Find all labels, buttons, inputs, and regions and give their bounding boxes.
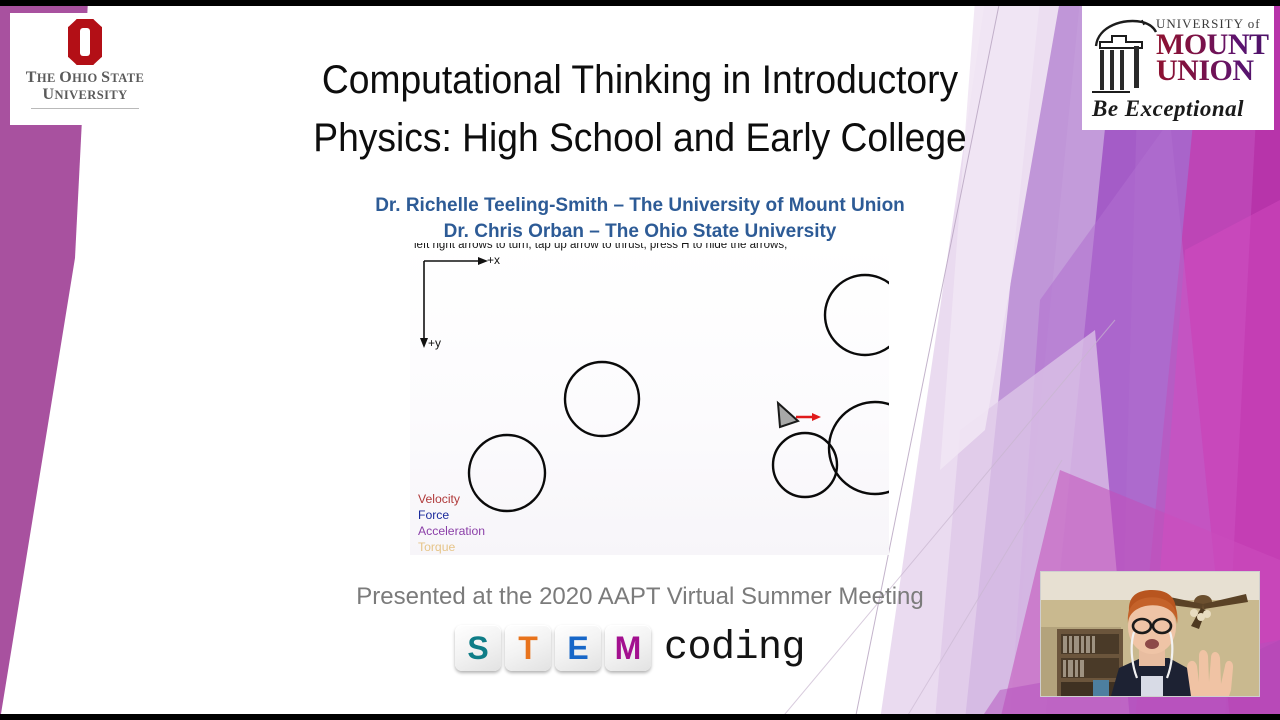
asteroid	[773, 433, 837, 497]
osu-wordmark: THE OHIO STATE UNIVERSITY	[26, 70, 144, 104]
webcam-video-frame	[1041, 572, 1259, 696]
mu-union: UNION	[1156, 58, 1270, 84]
osu-block-o-icon	[68, 19, 102, 65]
mount-union-wordmark: UNIVERSITY of MOUNT UNION	[1156, 16, 1270, 85]
mu-tagline: Be Exceptional	[1092, 96, 1244, 122]
presentation-slide: THE OHIO STATE UNIVERSITY UNIVERSITY of …	[0, 0, 1280, 720]
stem-tile-t: T	[505, 625, 551, 671]
stem-tile-e: E	[555, 625, 601, 671]
velocity-arrow	[796, 413, 821, 421]
legend-velocity: Velocity	[418, 491, 485, 507]
author-line-1: Dr. Richelle Teeling-Smith – The Univers…	[190, 193, 1090, 219]
simulation-legend: Velocity Force Acceleration Torque	[418, 491, 485, 555]
ohio-state-logo: THE OHIO STATE UNIVERSITY	[10, 13, 160, 125]
physics-simulation-screenshot: left right arrows to turn, tap up arrow …	[410, 243, 889, 555]
axis-y-label: +y	[428, 336, 441, 350]
asteroid	[565, 362, 639, 436]
asteroid	[825, 275, 889, 355]
title-line-2: Physics: High School and Early College	[222, 110, 1059, 168]
stem-coding-word: coding	[664, 626, 805, 671]
mount-union-logo: UNIVERSITY of MOUNT UNION Be Exceptional	[1082, 6, 1274, 130]
osu-divider	[31, 108, 139, 110]
stemcoding-logo: S T E M coding	[455, 625, 805, 671]
author-line-2: Dr. Chris Orban – The Ohio State Univers…	[190, 219, 1090, 245]
stem-tile-m: M	[605, 625, 651, 671]
slide-title: Computational Thinking in Introductory P…	[222, 52, 1059, 167]
mount-union-arch-icon	[1090, 16, 1162, 94]
legend-torque: Torque	[418, 539, 485, 555]
player-ship	[778, 403, 798, 427]
axis-indicator	[424, 261, 484, 344]
title-line-1: Computational Thinking in Introductory	[222, 52, 1059, 110]
axis-x-label: +x	[487, 253, 500, 267]
legend-acceleration: Acceleration	[418, 523, 485, 539]
asteroid	[829, 402, 889, 494]
author-block: Dr. Richelle Teeling-Smith – The Univers…	[190, 193, 1090, 245]
legend-force: Force	[418, 507, 485, 523]
presenter-webcam-thumbnail[interactable]	[1040, 571, 1260, 697]
stem-tile-s: S	[455, 625, 501, 671]
presented-at-text: Presented at the 2020 AAPT Virtual Summe…	[190, 583, 1090, 611]
